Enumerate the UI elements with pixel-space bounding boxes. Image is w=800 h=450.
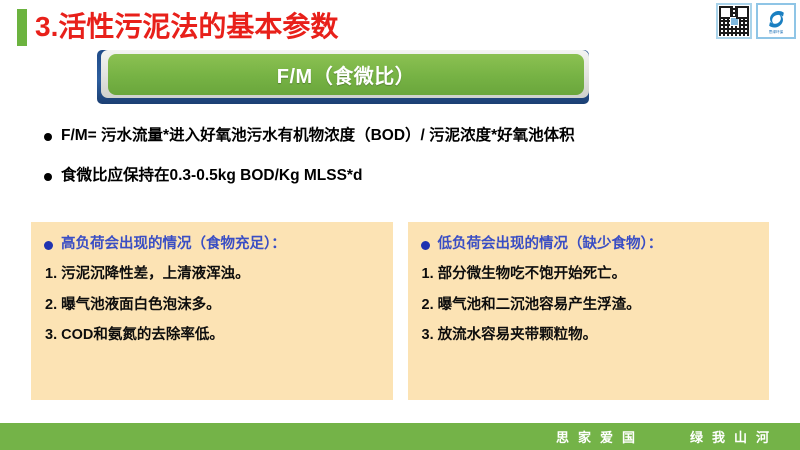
list-item: 2. 曝气池和二沉池容易产生浮渣。 [420, 297, 760, 314]
panel-heading: 低负荷会出现的情况（缺少食物）： [420, 236, 760, 253]
list-item: 3. COD和氨氮的去除率低。 [43, 327, 383, 344]
main-bullet-text: F/M= 污水流量*进入好氧池污水有机物浓度（BOD）/ 污泥浓度*好氧池体积 [61, 126, 575, 145]
footer-bar: 思家爱国 绿我山河 [0, 423, 800, 450]
bullet-dot-icon [44, 133, 52, 141]
list-item: 1. 部分微生物吃不饱开始死亡。 [420, 266, 760, 283]
panel-heading-text: 低负荷会出现的情况（缺少食物）： [438, 236, 663, 253]
list-item: 食微比应保持在0.3-0.5kg BOD/Kg MLSS*d [44, 166, 764, 185]
title-text: 3.活性污泥法的基本参数 [35, 13, 338, 41]
footer-phrase-left: 思家爱国 [556, 427, 644, 446]
panel-high-load: 高负荷会出现的情况（食物充足）： 1. 污泥沉降性差，上清液浑浊。 2. 曝气池… [31, 222, 393, 400]
main-bullet-list: F/M= 污水流量*进入好氧池污水有机物浓度（BOD）/ 污泥浓度*好氧池体积 … [44, 126, 764, 207]
panel-heading: 高负荷会出现的情况（食物充足）： [43, 236, 383, 253]
panel-low-load: 低负荷会出现的情况（缺少食物）： 1. 部分微生物吃不饱开始死亡。 2. 曝气池… [408, 222, 770, 400]
panel-heading-text: 高负荷会出现的情况（食物充足）： [61, 236, 286, 253]
qr-code-icon[interactable] [716, 3, 752, 39]
title-accent-bar [17, 9, 27, 46]
qr-center-marker [730, 17, 739, 26]
list-item: 3. 放流水容易夹带颗粒物。 [420, 327, 760, 344]
slide-root: 3.活性污泥法的基本参数 思绿环保 F/M（食微比） F/M= 污水流量*进入好… [0, 0, 800, 450]
list-item: 1. 污泥沉降性差，上清液浑浊。 [43, 266, 383, 283]
banner-green-plate: F/M（食微比） [108, 54, 584, 95]
company-logo[interactable]: 思绿环保 [756, 3, 796, 39]
qr-code-pattern [719, 6, 749, 36]
bullet-dot-icon [421, 241, 430, 250]
section-banner: F/M（食微比） [97, 50, 589, 104]
banner-title: F/M（食微比） [277, 60, 415, 89]
logo-caption: 思绿环保 [769, 30, 783, 34]
footer-phrase-right: 绿我山河 [690, 427, 778, 446]
list-item: F/M= 污水流量*进入好氧池污水有机物浓度（BOD）/ 污泥浓度*好氧池体积 [44, 126, 764, 145]
logo-swirl-icon [766, 10, 787, 29]
brand-cluster: 思绿环保 [716, 3, 796, 39]
comparison-panels: 高负荷会出现的情况（食物充足）： 1. 污泥沉降性差，上清液浑浊。 2. 曝气池… [31, 222, 769, 400]
list-item: 2. 曝气池液面白色泡沫多。 [43, 297, 383, 314]
bullet-dot-icon [44, 173, 52, 181]
main-bullet-text: 食微比应保持在0.3-0.5kg BOD/Kg MLSS*d [61, 166, 362, 185]
bullet-dot-icon [44, 241, 53, 250]
page-title: 3.活性污泥法的基本参数 [17, 7, 338, 47]
